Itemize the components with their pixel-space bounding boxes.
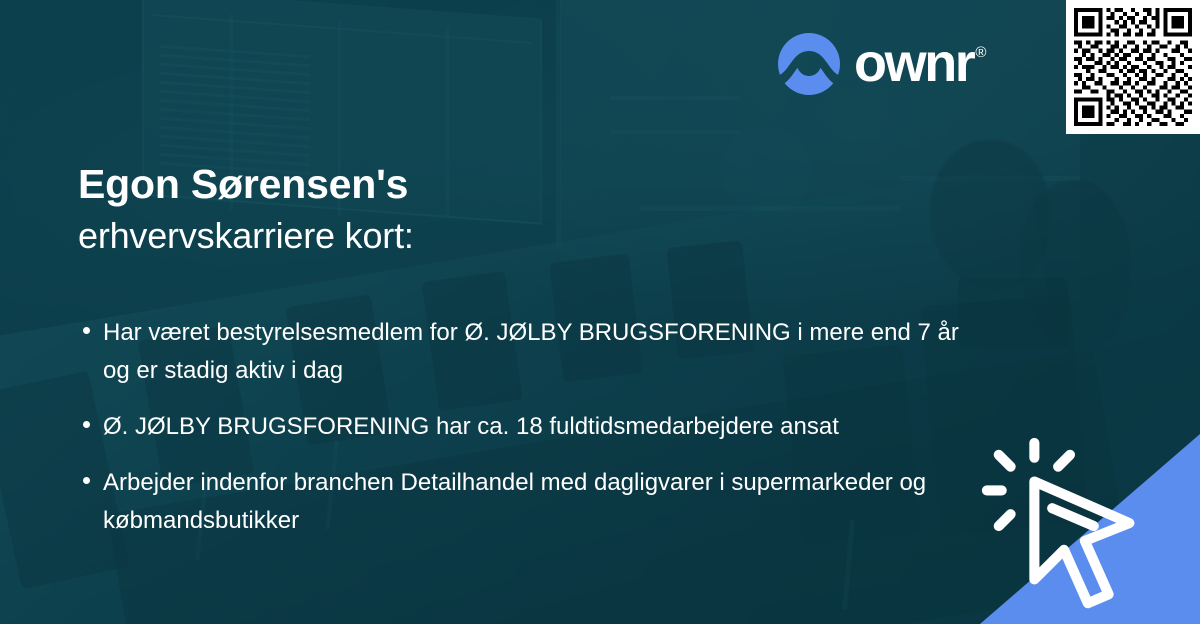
page-subtitle: erhvervskarriere kort: — [78, 214, 838, 258]
registered-trademark-symbol: ® — [975, 45, 984, 60]
blue-corner-triangle — [940, 434, 1200, 624]
click-cursor-icon — [940, 434, 1200, 624]
ownr-wordmark: ownr ® — [854, 39, 984, 89]
ownr-wordmark-text: ownr — [854, 39, 973, 89]
ownr-circle-logo-icon — [778, 33, 840, 95]
page-title: Egon Sørensen's erhvervskarriere kort: — [78, 160, 838, 258]
ownr-logo[interactable]: ownr ® — [778, 33, 984, 95]
list-item: Arbejder indenfor branchen Detailhandel … — [78, 464, 978, 540]
list-item: Har været bestyrelsesmedlem for Ø. JØLBY… — [78, 314, 978, 390]
career-facts-list: Har været bestyrelsesmedlem for Ø. JØLBY… — [78, 314, 978, 540]
qr-code-icon — [1074, 8, 1192, 126]
business-card-banner: ownr ® — [0, 0, 1200, 624]
qr-code[interactable] — [1066, 0, 1200, 134]
person-name: Egon Sørensen's — [78, 160, 838, 208]
list-item: Ø. JØLBY BRUGSFORENING har ca. 18 fuldti… — [78, 408, 978, 446]
